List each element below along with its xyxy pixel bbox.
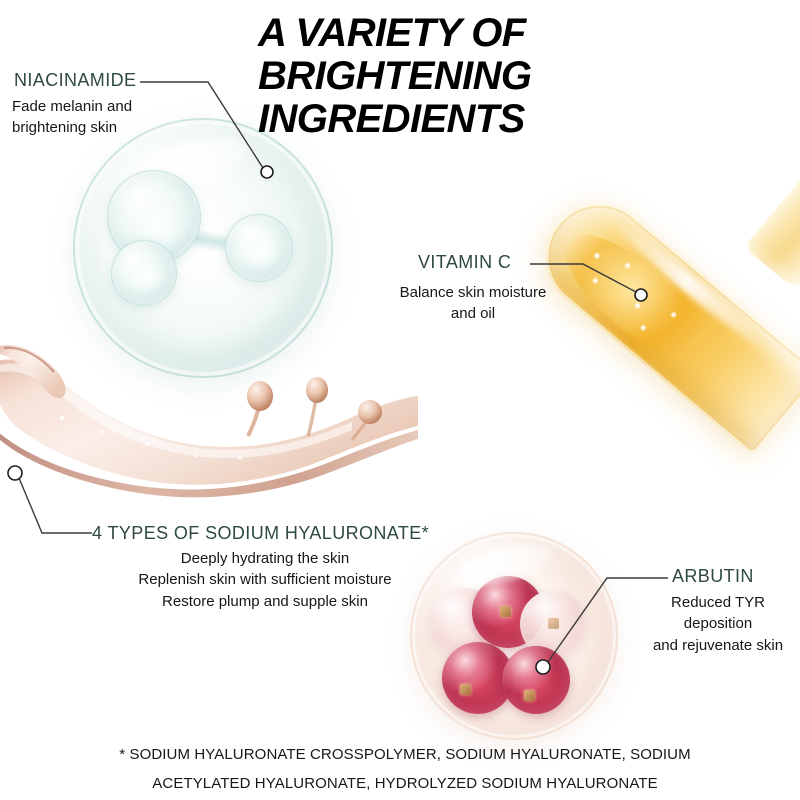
description-line: and oil: [398, 303, 548, 324]
ingredient-description-arbutin: Reduced TYR deposition and rejuvenate sk…: [638, 592, 798, 656]
niacinamide-molecule-bubble-image: [73, 118, 333, 378]
description-line: Fade melanin and: [12, 96, 132, 117]
page-title-line-2: INGREDIENTS: [258, 98, 788, 141]
ingredient-label-arbutin: ARBUTIN: [672, 566, 754, 587]
vitamin-c-test-tube-image: [548, 150, 800, 400]
infographic-canvas: A VARIETY OF BRIGHTENING INGREDIENTS NIA…: [0, 0, 800, 800]
test-tube-mouth: [744, 161, 800, 296]
ingredient-label-sodium-hyaluronate: 4 TYPES OF SODIUM HYALURONATE*: [92, 523, 429, 544]
test-tube-glass-rim: [523, 181, 800, 457]
serum-droplet: [247, 381, 273, 411]
serum-bubble: [238, 456, 242, 460]
page-title: A VARIETY OF BRIGHTENING INGREDIENTS: [258, 12, 788, 142]
test-tube-body: [523, 181, 800, 457]
ingredient-label-niacinamide: NIACINAMIDE: [14, 70, 136, 91]
arbutin-pearl-sphere-image: [410, 532, 618, 740]
ingredient-footnote: * SODIUM HYALURONATE CROSSPOLYMER, SODIU…: [60, 740, 750, 799]
description-line: and rejuvenate skin: [638, 635, 798, 656]
description-line: Restore plump and supple skin: [120, 591, 410, 612]
footnote-line-1: * SODIUM HYALURONATE CROSSPOLYMER, SODIU…: [60, 740, 750, 769]
bubble-rim: [73, 118, 333, 378]
description-line: brightening skin: [12, 117, 132, 138]
ingredient-description-niacinamide: Fade melanin and brightening skin: [12, 96, 132, 139]
serum-bubble: [100, 430, 104, 434]
description-line: Reduced TYR deposition: [638, 592, 798, 635]
page-title-line-1: A VARIETY OF BRIGHTENING: [258, 12, 788, 98]
serum-bubble: [60, 416, 64, 420]
ingredient-description-vitamin-c: Balance skin moisture and oil: [398, 282, 548, 325]
serum-droplet: [358, 400, 382, 424]
droplet-stem: [308, 398, 316, 436]
ingredient-label-vitamin-c: VITAMIN C: [418, 252, 511, 273]
description-line: Balance skin moisture: [398, 282, 548, 303]
description-line: Deeply hydrating the skin: [120, 548, 410, 569]
serum-ribbon: [0, 359, 418, 484]
sodium-hyaluronate-serum-wave-image: [0, 340, 420, 525]
footnote-line-2: ACETYLATED HYALURONATE, HYDROLYZED SODIU…: [60, 769, 750, 798]
pearl-rim: [410, 532, 618, 740]
serum-bubble: [146, 442, 151, 447]
serum-bubble: [194, 454, 197, 457]
description-line: Replenish skin with sufficient moisture: [120, 569, 410, 590]
serum-droplet: [306, 377, 328, 403]
ingredient-description-sodium-hyaluronate: Deeply hydrating the skin Replenish skin…: [120, 548, 410, 612]
